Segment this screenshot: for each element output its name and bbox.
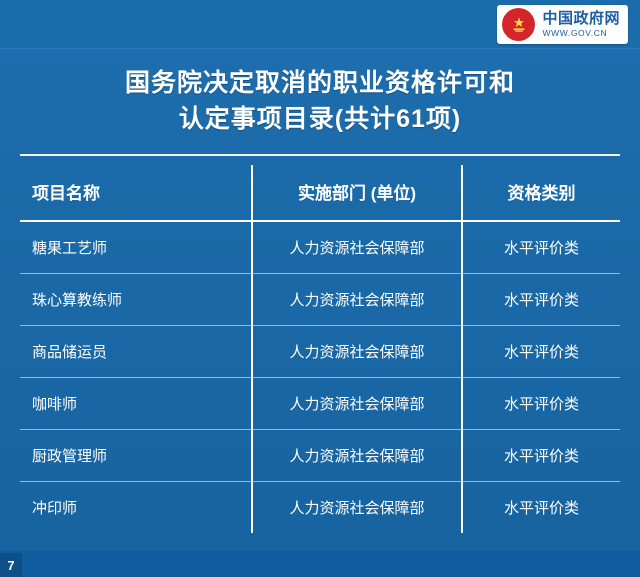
page-title-line-1: 国务院决定取消的职业资格许可和 <box>26 65 614 101</box>
footer-bar <box>0 551 640 577</box>
cell-item-name: 冲印师 <box>20 481 252 533</box>
slide-page: 中国政府网 WWW.GOV.CN 国务院决定取消的职业资格许可和 认定事项目录(… <box>0 0 640 577</box>
page-number-badge: 7 <box>0 553 22 577</box>
table-row: 糖果工艺师 人力资源社会保障部 水平评价类 <box>20 221 620 274</box>
cell-department: 人力资源社会保障部 <box>252 325 462 377</box>
table-body: 糖果工艺师 人力资源社会保障部 水平评价类 珠心算教练师 人力资源社会保障部 水… <box>20 221 620 533</box>
china-national-emblem-icon <box>502 8 535 41</box>
gov-cn-badge[interactable]: 中国政府网 WWW.GOV.CN <box>497 5 628 44</box>
cell-item-name: 商品储运员 <box>20 325 252 377</box>
cell-item-name: 厨政管理师 <box>20 429 252 481</box>
cell-category: 水平评价类 <box>462 221 620 274</box>
cell-department: 人力资源社会保障部 <box>252 221 462 274</box>
qualification-table: 项目名称 实施部门 (单位) 资格类别 糖果工艺师 人力资源社会保障部 水平评价… <box>20 165 620 533</box>
cell-category: 水平评价类 <box>462 429 620 481</box>
cell-department: 人力资源社会保障部 <box>252 481 462 533</box>
cell-item-name: 珠心算教练师 <box>20 273 252 325</box>
table-row: 咖啡师 人力资源社会保障部 水平评价类 <box>20 377 620 429</box>
title-divider <box>20 154 620 156</box>
cell-department: 人力资源社会保障部 <box>252 377 462 429</box>
cell-item-name: 咖啡师 <box>20 377 252 429</box>
page-title: 国务院决定取消的职业资格许可和 认定事项目录(共计61项) <box>0 49 640 150</box>
table-row: 珠心算教练师 人力资源社会保障部 水平评价类 <box>20 273 620 325</box>
cell-category: 水平评价类 <box>462 377 620 429</box>
cell-department: 人力资源社会保障部 <box>252 273 462 325</box>
page-title-line-2: 认定事项目录(共计61项) <box>26 101 614 137</box>
cell-category: 水平评价类 <box>462 481 620 533</box>
top-bar: 中国政府网 WWW.GOV.CN <box>0 0 640 49</box>
gov-badge-title: 中国政府网 <box>542 11 620 26</box>
table-header-row: 项目名称 实施部门 (单位) 资格类别 <box>20 165 620 221</box>
gov-badge-url: WWW.GOV.CN <box>542 29 620 38</box>
table-row: 冲印师 人力资源社会保障部 水平评价类 <box>20 481 620 533</box>
table-row: 商品储运员 人力资源社会保障部 水平评价类 <box>20 325 620 377</box>
gov-badge-text: 中国政府网 WWW.GOV.CN <box>542 11 620 38</box>
column-header-department: 实施部门 (单位) <box>252 165 462 221</box>
table-header: 项目名称 实施部门 (单位) 资格类别 <box>20 165 620 221</box>
cell-category: 水平评价类 <box>462 325 620 377</box>
column-header-category: 资格类别 <box>462 165 620 221</box>
table-row: 厨政管理师 人力资源社会保障部 水平评价类 <box>20 429 620 481</box>
cell-department: 人力资源社会保障部 <box>252 429 462 481</box>
cell-category: 水平评价类 <box>462 273 620 325</box>
table-container: 项目名称 实施部门 (单位) 资格类别 糖果工艺师 人力资源社会保障部 水平评价… <box>0 165 640 533</box>
cell-item-name: 糖果工艺师 <box>20 221 252 274</box>
column-header-item-name: 项目名称 <box>20 165 252 221</box>
